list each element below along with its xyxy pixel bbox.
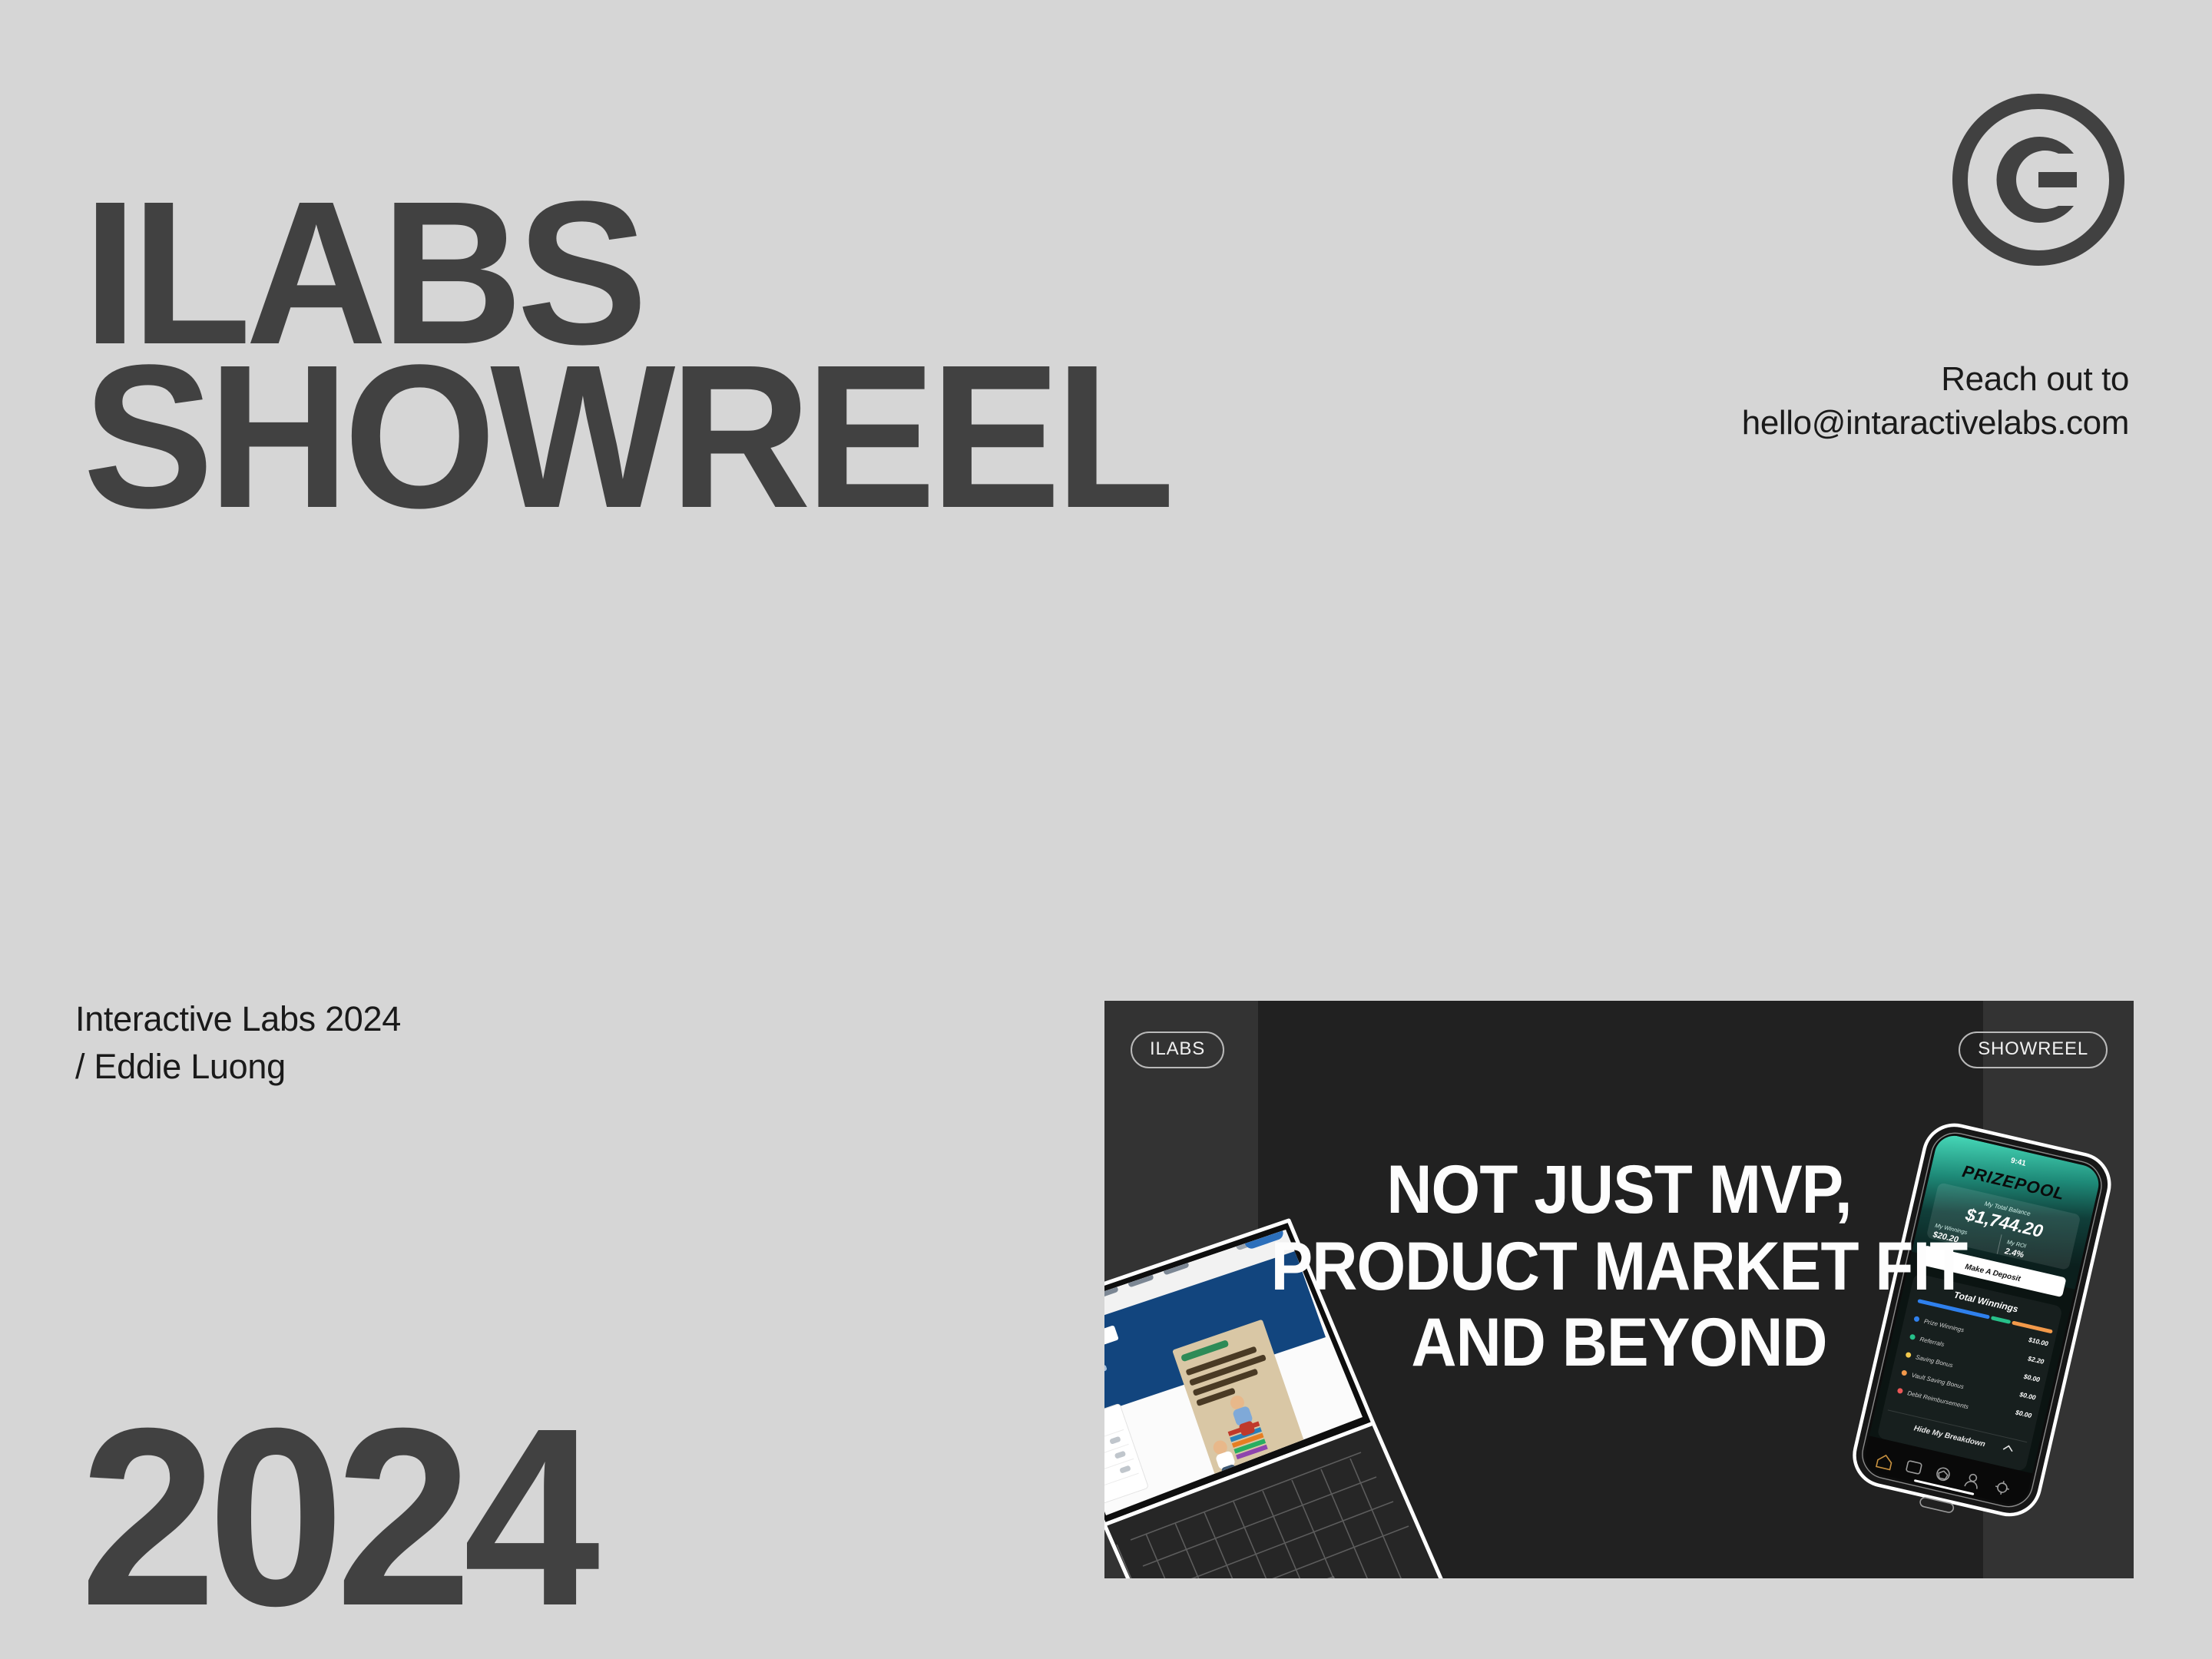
phone-body: 9:41 PRIZEPOOL My Total Balance $1,744.2… bbox=[1846, 1119, 2115, 1532]
credits-author: / Eddie Luong bbox=[75, 1043, 401, 1091]
phone-mockup: 9:41 PRIZEPOOL My Total Balance $1,744.2… bbox=[1860, 1133, 2134, 1578]
copyright-icon bbox=[1946, 88, 2131, 272]
credits-block: Interactive Labs 2024 / Eddie Luong bbox=[75, 995, 401, 1091]
contact-block: Reach out to hello@intaractivelabs.com bbox=[1742, 357, 2129, 445]
badge-ilabs: ILABS bbox=[1131, 1031, 1224, 1068]
badge-showreel: SHOWREEL bbox=[1959, 1031, 2108, 1068]
credits-company: Interactive Labs 2024 bbox=[75, 995, 401, 1043]
laptop-mockup bbox=[1104, 1147, 1445, 1578]
year-label: 2024 bbox=[80, 1390, 591, 1644]
showreel-thumbnail-card[interactable]: ILABS SHOWREEL NOT JUST MVP, PRODUCT MAR… bbox=[1104, 1001, 2134, 1578]
contact-email[interactable]: hello@intaractivelabs.com bbox=[1742, 401, 2129, 445]
page-title: ILABS SHOWREEL bbox=[83, 192, 1169, 519]
contact-prompt: Reach out to bbox=[1742, 357, 2129, 401]
page-title-line-2: SHOWREEL bbox=[83, 356, 1169, 519]
